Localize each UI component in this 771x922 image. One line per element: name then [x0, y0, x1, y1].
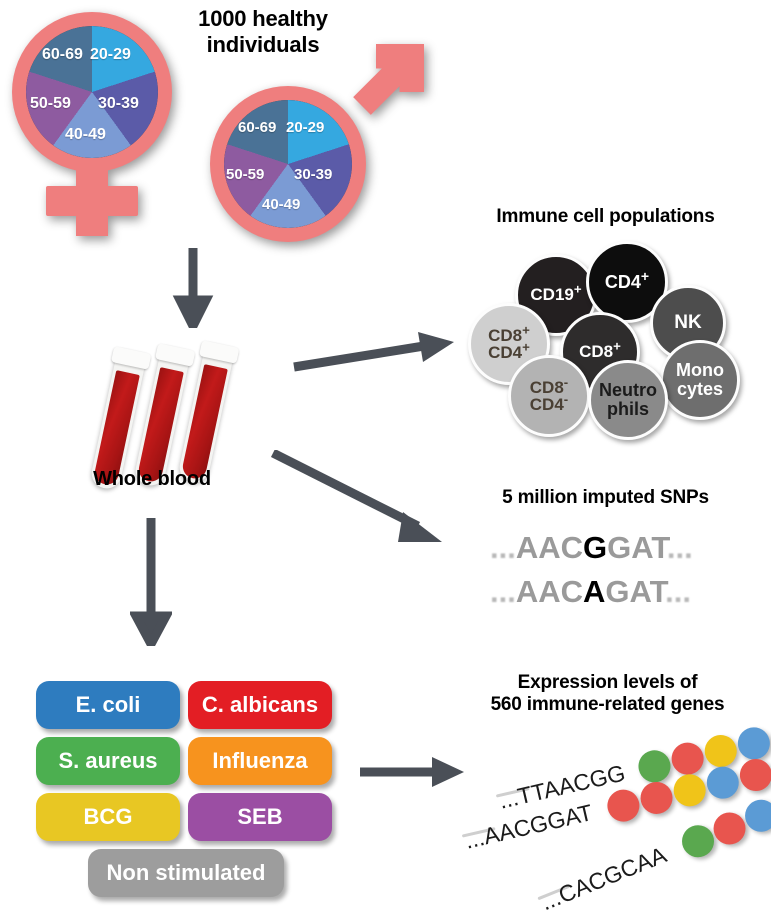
snp-sequence-row: ...AACAGAT...: [490, 574, 691, 610]
strand-sequence-text: ...AACGGAT: [462, 799, 595, 855]
nucleotide-bead: [704, 763, 742, 801]
snp-prefix: ...: [490, 574, 516, 609]
stimulus-button-s-aureus[interactable]: S. aureus: [36, 737, 180, 785]
expression-strand: ...TTAACGG: [496, 716, 771, 819]
male-age-label-60-69: 60-69: [238, 119, 276, 136]
snp-variant-base: A: [583, 574, 605, 609]
female-age-label-50-59: 50-59: [30, 95, 71, 113]
female-age-label-20-29: 20-29: [90, 46, 131, 64]
strand-sequence-text: ...CACGCAA: [537, 841, 670, 916]
immune-cell-cd8-cd4: CD8-CD4-: [508, 355, 590, 437]
immune-cell-label: CD4+: [605, 273, 649, 292]
expression-strand: ...CACGCAA: [537, 771, 771, 921]
immune-cell-label: Monocytes: [676, 361, 724, 398]
arrow-cohort-to-blood: [172, 248, 214, 328]
snp-suffix: ...: [667, 530, 693, 565]
expression-section-title: Expression levels of 560 immune-related …: [452, 672, 763, 717]
male-gender-symbol: 20-29 30-39 40-49 50-59 60-69: [208, 48, 420, 248]
stimulus-label: BCG: [84, 804, 133, 830]
snp-left-flank: AAC: [516, 574, 583, 609]
snps-section-title: 5 million imputed SNPs: [440, 487, 771, 509]
nucleotide-bead: [670, 771, 708, 809]
stimulus-label: Influenza: [212, 748, 307, 774]
stimulus-button-non-stimulated[interactable]: Non stimulated: [88, 849, 284, 897]
whole-blood-label: Whole blood: [52, 468, 252, 492]
arrow-blood-to-snps: [270, 450, 450, 550]
immune-cell-neutrophils: Neutrophils: [588, 360, 668, 440]
immune-section-title: Immune cell populations: [440, 206, 771, 228]
female-gender-symbol: 20-29 30-39 40-49 50-59 60-69: [8, 8, 178, 238]
immune-cell-monocytes: Monocytes: [660, 340, 740, 420]
stimulus-button-c-albicans[interactable]: C. albicans: [188, 681, 332, 729]
stimulus-button-seb[interactable]: SEB: [188, 793, 332, 841]
nucleotide-bead: [740, 795, 771, 837]
snp-sequence-row: ...AACGGAT...: [490, 530, 693, 566]
nucleotide-bead: [635, 747, 673, 785]
male-age-label-30-39: 30-39: [294, 166, 332, 183]
immune-cell-label: Neutrophils: [599, 381, 657, 418]
male-age-label-40-49: 40-49: [262, 196, 300, 213]
immune-cell-label: CD8+CD4+: [488, 327, 530, 362]
strand-leader-line: [496, 787, 530, 798]
immune-cell-label: CD8-CD4-: [530, 379, 568, 414]
female-age-label-60-69: 60-69: [42, 46, 83, 64]
nucleotide-bead: [737, 756, 771, 794]
snp-suffix: ...: [665, 574, 691, 609]
immune-cell-label: NK: [674, 313, 701, 333]
female-symbol-stem-horizontal: [46, 186, 138, 216]
female-age-label-40-49: 40-49: [65, 126, 106, 144]
stimulus-button-influenza[interactable]: Influenza: [188, 737, 332, 785]
nucleotide-bead: [735, 724, 771, 762]
stimulus-button-bcg[interactable]: BCG: [36, 793, 180, 841]
page-title-line-1: 1000 healthy: [168, 6, 358, 32]
female-age-label-30-39: 30-39: [98, 95, 139, 113]
arrow-stimuli-to-expression: [358, 752, 468, 792]
nucleotide-bead: [604, 786, 642, 824]
snp-sequence-block: ...AACGGAT......AACAGAT...: [490, 530, 760, 620]
stimulus-label: C. albicans: [202, 692, 318, 718]
diagram-canvas: 1000 healthy individuals 20-29 30-39 40-…: [0, 0, 771, 922]
stimulus-label: E. coli: [76, 692, 141, 718]
snp-left-flank: AAC: [516, 530, 583, 565]
immune-cell-label: CD19+: [530, 286, 581, 304]
strand-leader-line: [462, 827, 496, 838]
stimulus-label: SEB: [237, 804, 282, 830]
nucleotide-bead: [709, 808, 751, 850]
immune-cell-label: CD8+: [579, 343, 621, 361]
stimulus-label: Non stimulated: [107, 860, 266, 886]
nucleotide-bead: [677, 820, 719, 862]
snp-variant-base: G: [583, 530, 607, 565]
nucleotide-bead: [637, 779, 675, 817]
snp-prefix: ...: [490, 530, 516, 565]
strand-sequence-text: ...TTAACGG: [496, 759, 627, 814]
strand-leader-line: [537, 885, 570, 901]
male-age-label-20-29: 20-29: [286, 119, 324, 136]
expression-strand: ...AACGGAT: [462, 756, 771, 859]
arrow-blood-to-stimuli: [130, 518, 172, 646]
stimulus-button-e-coli[interactable]: E. coli: [36, 681, 180, 729]
stimulus-label: S. aureus: [58, 748, 157, 774]
expression-title-line-2: 560 immune-related genes: [452, 694, 763, 716]
expression-title-line-1: Expression levels of: [452, 672, 763, 694]
arrow-blood-to-immune-cells: [292, 330, 457, 380]
snp-right-flank: GAT: [607, 530, 667, 565]
nucleotide-bead: [702, 732, 740, 770]
male-age-label-50-59: 50-59: [226, 166, 264, 183]
snp-right-flank: GAT: [605, 574, 665, 609]
nucleotide-bead: [668, 739, 706, 777]
